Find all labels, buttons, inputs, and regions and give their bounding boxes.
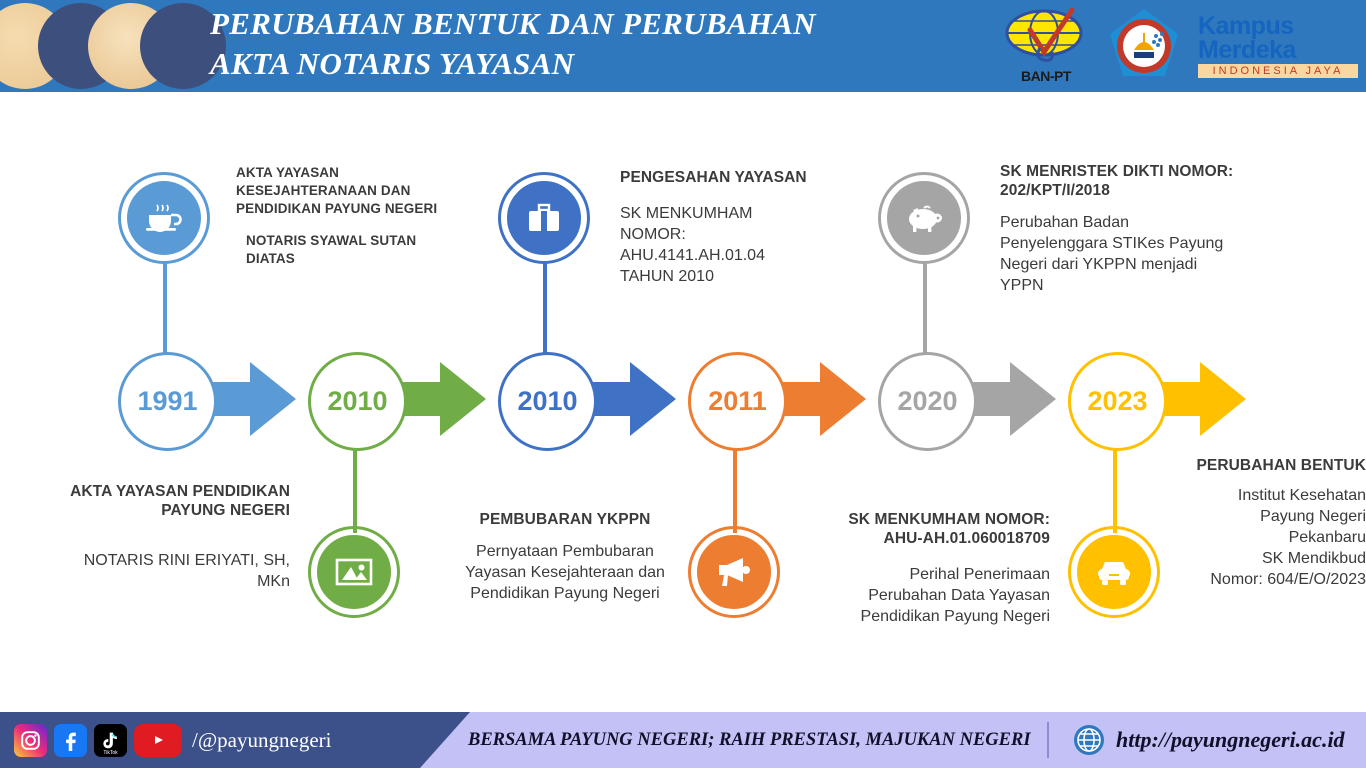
milestone-1991-top-text: AKTA YAYASAN KESEJAHTERANAAN DAN PENDIDI… [236, 164, 486, 268]
year-label: 2011 [708, 386, 767, 417]
top-body-line2: NOMOR: [620, 224, 860, 245]
top-body-line3: Negeri dari YKPPN menjadi [1000, 254, 1260, 275]
year-badge-2011[interactable]: 2011 [688, 352, 787, 451]
bottom-heading-line1: SK MENKUMHAM NOMOR: [790, 510, 1050, 529]
bottom-body-line2: Perubahan Data Yayasan [790, 585, 1050, 606]
bottom-heading-line2: AHU-AH.01.060018709 [790, 529, 1050, 548]
kampus-merdeka-tagline: INDONESIA JAYA [1198, 64, 1358, 78]
year-label: 2023 [1087, 386, 1147, 417]
kampus-merdeka-logo: Kampus Merdeka INDONESIA JAYA [1198, 14, 1358, 78]
website-url[interactable]: http://payungnegeri.ac.id [1116, 727, 1345, 753]
top-heading-line1: SK MENRISTEK DIKTI NOMOR: [1000, 162, 1260, 181]
header-logo-group: BAN-PT Kampus Merdeka INDONESIA JAYA [1000, 0, 1358, 92]
milestone-2010-blue-top-text: PENGESAHAN YAYASAN SK MENKUMHAM NOMOR: A… [620, 168, 860, 287]
timeline: 1991 AKTA YAYASAN KESEJAHTERANAAN DAN PE… [0, 92, 1366, 712]
ban-pt-logo-label: BAN-PT [1000, 68, 1092, 84]
top-body-line1: Perubahan Badan [1000, 212, 1260, 233]
bottom-body-line3: Pendidikan Payung Negeri [440, 583, 690, 604]
bottom-body-line3: Pendidikan Payung Negeri [790, 606, 1050, 627]
instagram-icon[interactable] [14, 724, 47, 757]
top-heading-line1: PENGESAHAN YAYASAN [620, 168, 860, 187]
institut-kesehatan-payung-negeri-logo [1106, 6, 1184, 87]
social-icon-group: TikTok [14, 724, 182, 757]
youtube-icon[interactable] [134, 724, 182, 757]
briefcase-icon-circle [498, 172, 590, 264]
page-title: PERUBAHAN BENTUK DAN PERUBAHAN AKTA NOTA… [210, 4, 970, 84]
bottom-body-line1: Pernyataan Pembubaran [440, 541, 690, 562]
megaphone-icon [715, 555, 753, 589]
milestone-2010-green-bottom-text: PEMBUBARAN YKPPN Pernyataan Pembubaran Y… [440, 510, 690, 604]
bottom-body-line2: MKn [40, 571, 290, 592]
bottom-heading-line1: AKTA YAYASAN PENDIDIKAN [40, 482, 290, 501]
top-heading-line1: AKTA YAYASAN [236, 164, 486, 182]
year-label: 2020 [897, 386, 957, 417]
page-title-line1: PERUBAHAN BENTUK DAN PERUBAHAN [210, 6, 816, 41]
page-title-line2: AKTA NOTARIS YAYASAN [210, 44, 970, 84]
page-footer: TikTok /@payungnegeri BERSAMA PAYUNG NEG… [0, 712, 1366, 768]
bottom-body-line2: Yayasan Kesejahteraan dan [440, 562, 690, 583]
coffee-cup-icon [144, 201, 184, 235]
year-badge-2023[interactable]: 2023 [1068, 352, 1167, 451]
milestone-2020-top-text: SK MENRISTEK DIKTI NOMOR: 202/KPT/I/2018… [1000, 162, 1260, 296]
top-heading-line2: KESEJAHTERANAAN DAN [236, 182, 486, 200]
ban-pt-logo: BAN-PT [1000, 8, 1092, 84]
top-heading-line2: 202/KPT/I/2018 [1000, 181, 1260, 200]
year-label: 1991 [137, 386, 197, 417]
year-badge-2010-blue[interactable]: 2010 [498, 352, 597, 451]
bottom-heading-line1: PEMBUBARAN YKPPN [440, 510, 690, 529]
node-connector [1113, 442, 1117, 534]
globe-icon [1072, 723, 1106, 757]
top-body-line2: Penyelenggara STIKes Payung [1000, 233, 1260, 254]
footer-tagline: BERSAMA PAYUNG NEGERI; RAIH PRESTASI, MA… [468, 712, 1031, 768]
page-header: PERUBAHAN BENTUK DAN PERUBAHAN AKTA NOTA… [0, 0, 1366, 92]
piggy-bank-icon [904, 203, 944, 233]
megaphone-icon-circle [688, 526, 780, 618]
kampus-merdeka-wordmark: Kampus Merdeka [1198, 14, 1358, 62]
milestone-2011-bottom-text: SK MENKUMHAM NOMOR: AHU-AH.01.060018709 … [790, 510, 1050, 627]
top-body-line2: DIATAS [236, 250, 486, 268]
year-badge-1991[interactable]: 1991 [118, 352, 217, 451]
tiktok-icon[interactable]: TikTok [94, 724, 127, 757]
top-heading-line3: PENDIDIKAN PAYUNG NEGERI [236, 200, 486, 218]
top-body-line3: AHU.4141.AH.01.04 [620, 245, 860, 266]
year-badge-2020[interactable]: 2020 [878, 352, 977, 451]
car-icon-circle [1068, 526, 1160, 618]
bottom-body-line2: Payung Negeri [1110, 506, 1366, 527]
bottom-body-line1: Perihal Penerimaan [790, 564, 1050, 585]
year-label: 2010 [327, 386, 387, 417]
bottom-body-line1: Institut Kesehatan [1110, 485, 1366, 506]
milestone-1991-bottom-text: AKTA YAYASAN PENDIDIKAN PAYUNG NEGERI NO… [40, 482, 290, 592]
node-connector [353, 442, 357, 534]
bottom-body-line1: NOTARIS RINI ERIYATI, SH, [40, 550, 290, 571]
piggy-bank-icon-circle [878, 172, 970, 264]
top-body-line4: TAHUN 2010 [620, 266, 860, 287]
briefcase-icon [526, 202, 562, 234]
year-label: 2010 [517, 386, 577, 417]
node-connector [733, 442, 737, 534]
year-badge-2010-green[interactable]: 2010 [308, 352, 407, 451]
bottom-heading-line1: PERUBAHAN BENTUK [1110, 456, 1366, 475]
social-handle: /@payungnegeri [192, 728, 331, 753]
bottom-heading-line2: PAYUNG NEGERI [40, 501, 290, 520]
top-body-line1: SK MENKUMHAM [620, 203, 860, 224]
coffee-cup-icon-circle [118, 172, 210, 264]
footer-website-group[interactable]: http://payungnegeri.ac.id [1072, 712, 1345, 768]
car-icon [1094, 557, 1134, 587]
footer-divider [1047, 722, 1049, 758]
image-picture-icon-circle [308, 526, 400, 618]
footer-social-panel: TikTok /@payungnegeri [0, 712, 470, 768]
image-picture-icon [335, 557, 373, 587]
top-body-line1: NOTARIS SYAWAL SUTAN [236, 232, 486, 250]
facebook-icon[interactable] [54, 724, 87, 757]
top-body-line4: YPPN [1000, 275, 1260, 296]
